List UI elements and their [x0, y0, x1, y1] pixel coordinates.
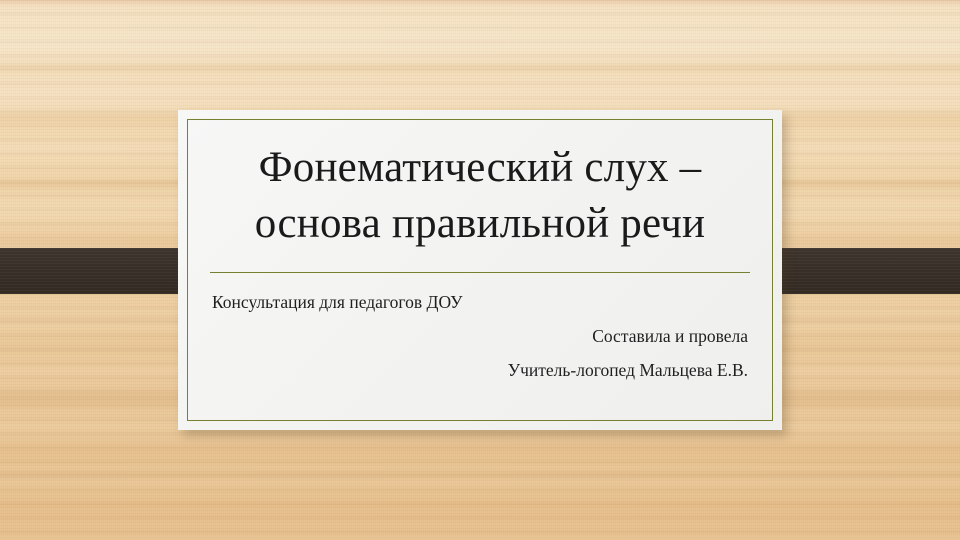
subtitle-line-prepared-by: Составила и провела [212, 320, 748, 354]
card-content: Фонематический слух – основа правильной … [178, 110, 782, 430]
subtitle-line-author: Учитель-логопед Мальцева Е.В. [212, 354, 748, 388]
subtitle-line-audience: Консультация для педагогов ДОУ [212, 286, 748, 320]
title-divider [210, 272, 750, 273]
slide-title-line-2: основа правильной речи [210, 196, 750, 252]
presentation-slide: Фонематический слух – основа правильной … [0, 0, 960, 540]
slide-subtitle: Консультация для педагогов ДОУ Составила… [212, 286, 748, 387]
slide-title: Фонематический слух – основа правильной … [210, 140, 750, 252]
title-card: Фонематический слух – основа правильной … [178, 110, 782, 430]
slide-title-line-1: Фонематический слух – [210, 140, 750, 196]
